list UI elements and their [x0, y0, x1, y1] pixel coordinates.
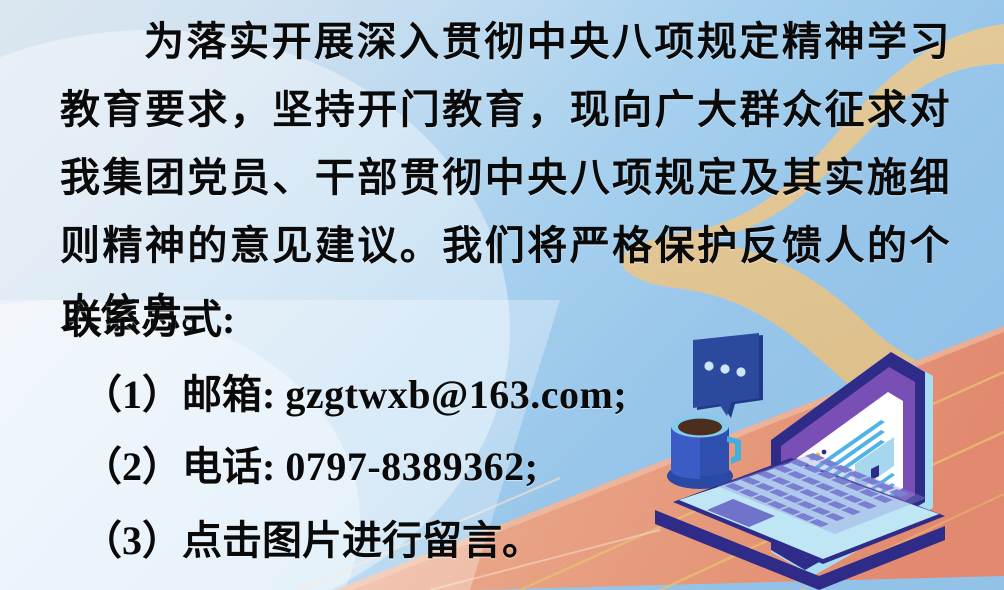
contact-heading: 联系方式: — [62, 300, 235, 340]
contact-item-phone: （2）电话: 0797-8389362; — [82, 447, 538, 487]
contact-item-email: （1）邮箱: gzgtwxb@163.com; — [82, 375, 627, 415]
contact-item-number: （2） — [82, 444, 182, 489]
isometric-laptop-illustration[interactable] — [645, 330, 1004, 590]
contact-item-label: 点击图片进行留言。 — [182, 518, 542, 563]
contact-item-label: 邮箱: — [182, 372, 275, 417]
contact-item-label: 电话: — [182, 444, 275, 489]
contact-item-number: （3） — [82, 518, 182, 563]
poster-canvas: 为落实开展深入贯彻中央八项规定精神学习教育要求，坚持开门教育，现向广大群众征求对… — [0, 0, 1004, 590]
phone-number[interactable]: 0797-8389362; — [285, 444, 538, 489]
email-address[interactable]: gzgtwxb@163.com; — [285, 372, 627, 417]
contact-item-click-image: （3）点击图片进行留言。 — [82, 521, 542, 561]
contact-item-number: （1） — [82, 372, 182, 417]
